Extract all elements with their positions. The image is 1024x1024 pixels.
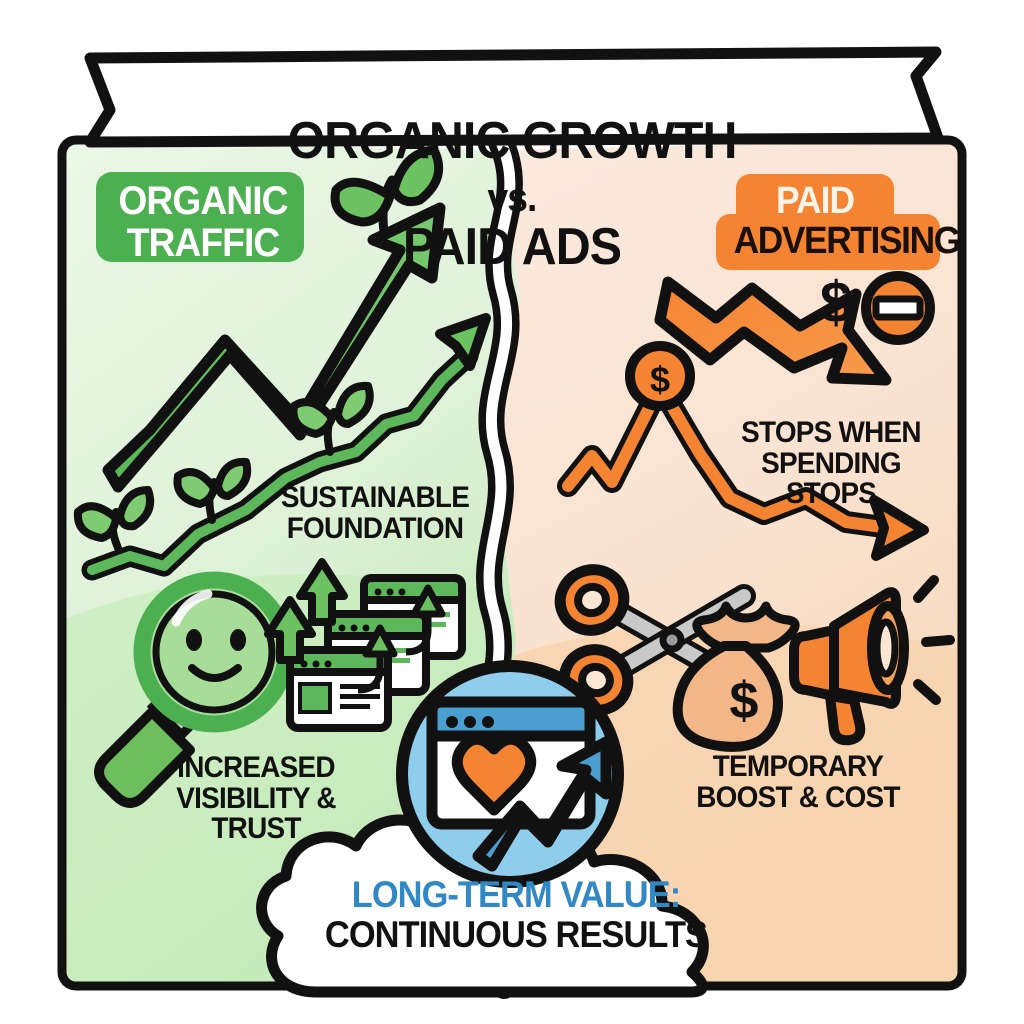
caption-stops-when-spending-stops: STOPS WHEN SPENDING STOPS — [726, 418, 936, 510]
organic-traffic-badge-label: ORGANIC TRAFFIC — [111, 180, 295, 264]
paid-badge-label-line-2: ADVERTISING — [734, 222, 937, 261]
caption-temporary-boost-cost: TEMPORARY BOOST & COST — [685, 752, 912, 813]
svg-text:$: $ — [650, 359, 670, 400]
browser-heart-growth-icon — [402, 666, 618, 882]
dollar-sign-icon: $ — [820, 270, 852, 335]
title-part-paid: PAID ADS — [403, 218, 621, 276]
infographic-poster: $ $ $ — [0, 0, 1024, 1024]
paid-badge-label-line-1: PAID — [745, 182, 885, 221]
title-part-vs: vs. — [488, 176, 537, 220]
svg-text:$: $ — [820, 270, 852, 335]
minus-circle-icon — [866, 276, 930, 340]
svg-text:$: $ — [730, 672, 759, 730]
caption-sustainable-foundation: SUSTAINABLE FOUNDATION — [275, 483, 474, 544]
cloud-headline: LONG-TERM VALUE: — [326, 876, 705, 914]
cloud-subheadline: CONTINUOUS RESULTS — [315, 916, 717, 954]
title-part-organic: ORGANIC GROWTH — [287, 112, 736, 170]
caption-increased-visibility-trust: INCREASED VISIBILITY & TRUST — [154, 753, 359, 845]
